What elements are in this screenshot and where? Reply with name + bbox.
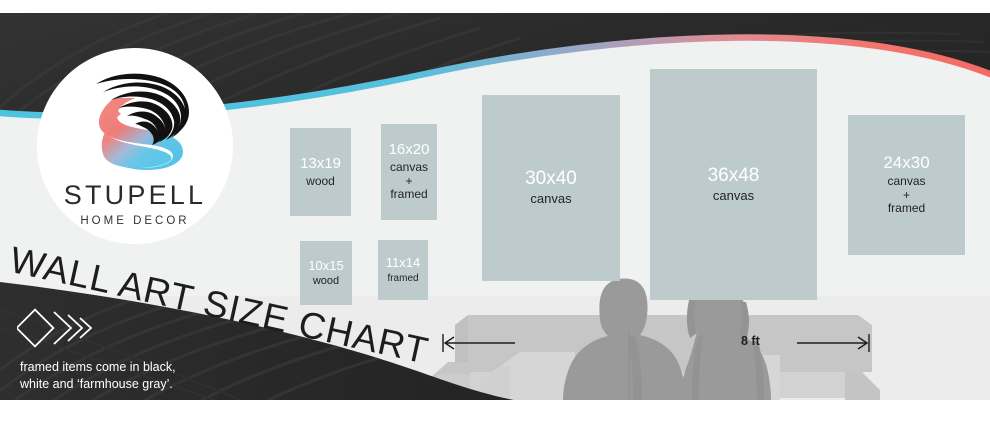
brand-name: STUPELL (64, 182, 206, 209)
brand-tagline: HOME DECOR (80, 216, 189, 228)
frame-material-label: wood (306, 175, 335, 188)
frame-material-label: canvas + framed (390, 161, 428, 201)
art-frame: 16x20canvas + framed (381, 124, 437, 220)
frame-material-label: canvas (530, 192, 571, 207)
frame-material-label: framed (387, 273, 418, 284)
art-frame: 11x14framed (378, 240, 428, 300)
frame-size-label: 30x40 (525, 169, 577, 189)
frame-size-label: 13x19 (300, 156, 341, 172)
top-white-strip (0, 0, 990, 13)
bottom-white-strip (0, 400, 990, 422)
measure-label: 8 ft (741, 334, 760, 348)
frame-material-label: canvas + framed (887, 175, 925, 215)
frame-size-label: 24x30 (883, 154, 929, 172)
room-width-measure (440, 326, 872, 360)
art-frame: 10x15wood (300, 241, 352, 305)
brand-logo-badge[interactable]: STUPELL HOME DECOR (37, 48, 233, 244)
art-frame: 36x48canvas (650, 69, 817, 300)
footnote: framed items come in black, white and ‘f… (20, 359, 176, 393)
frame-material-label: wood (313, 275, 339, 287)
art-frame: 30x40canvas (482, 95, 620, 281)
frame-size-label: 11x14 (386, 256, 420, 270)
stupell-swoosh-logo-icon (69, 66, 201, 178)
wall-art-size-chart-infographic: 8 ft 13x19wood16x20canvas + framed30x40c… (0, 0, 990, 422)
frame-size-label: 36x48 (708, 166, 760, 186)
art-frame: 13x19wood (290, 128, 351, 216)
frame-size-label: 10x15 (308, 259, 343, 273)
footnote-line-1: framed items come in black, (20, 359, 176, 376)
frame-size-label: 16x20 (389, 142, 430, 158)
diamond-chevron-icon (17, 306, 103, 350)
footnote-line-2: white and ‘farmhouse gray’. (20, 376, 176, 393)
frame-material-label: canvas (713, 189, 754, 204)
art-frame: 24x30canvas + framed (848, 115, 965, 255)
